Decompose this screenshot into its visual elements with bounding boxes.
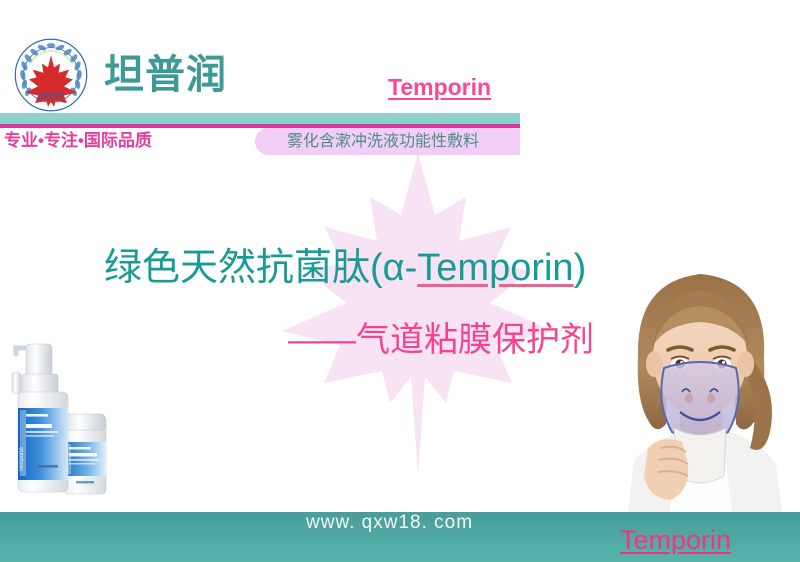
product-bottles-photo: Temporin — [2, 332, 128, 510]
company-tagline: 专业•专注•国际品质 — [4, 128, 152, 154]
site-watermark-url: www. qxw18. com — [306, 510, 473, 536]
main-subtitle: ——气道粘膜保护剂 — [288, 317, 594, 363]
logo-inner-text: 蓝鲸医学 — [37, 91, 64, 100]
brand-name: 坦普润 — [104, 50, 227, 100]
header-teal-band — [0, 113, 520, 124]
main-title-cn: 绿色天然抗菌肽(α- — [104, 247, 417, 289]
child-nebulizer-photo — [604, 252, 800, 512]
company-logo-icon[interactable]: 蓝鲸医学 CANADA MEDICAL SCIENCE — [13, 37, 89, 113]
main-title: 绿色天然抗菌肽(α-Temporin) — [104, 243, 586, 293]
slide-canvas: 蓝鲸医学 CANADA MEDICAL SCIENCE 坦普润 Temporin… — [0, 0, 800, 562]
maple-leaf-watermark-icon — [268, 145, 568, 475]
nebulizer-mask-icon — [661, 362, 738, 440]
product-spray-bottle: Temporin — [12, 344, 68, 492]
main-title-en: Temporin — [417, 247, 573, 289]
product-jar — [64, 414, 106, 494]
header-product-name: Temporin — [388, 74, 491, 101]
main-title-close: ) — [574, 247, 587, 289]
product-category-label: 雾化含漱冲洗液功能性敷料 — [287, 131, 479, 153]
header: 蓝鲸医学 CANADA MEDICAL SCIENCE 坦普润 Temporin… — [0, 0, 800, 160]
footer-brand-name: Temporin — [620, 523, 731, 557]
